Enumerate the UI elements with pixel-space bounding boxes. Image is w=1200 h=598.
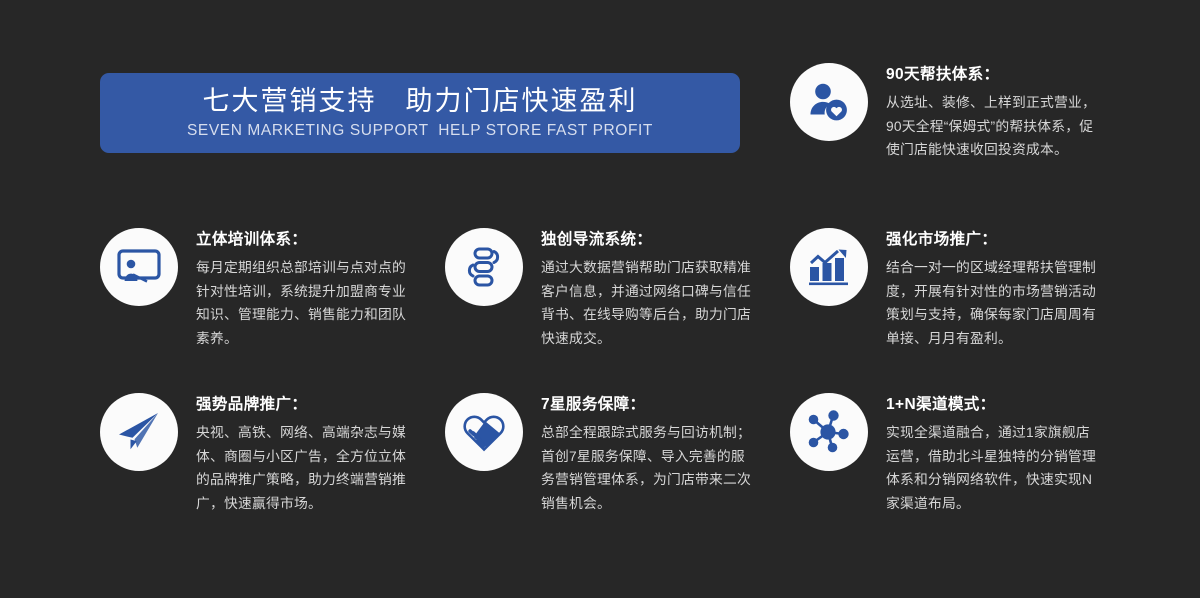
card-text: 结合一对一的区域经理帮扶管理制度，开展有针对性的市场营销活动策划与支持，确保每家… (886, 256, 1098, 350)
flow-diagram-icon (461, 244, 507, 290)
icon-circle (790, 63, 868, 141)
card-body: 立体培训体系： 每月定期组织总部培训与点对点的针对性培训，系统提升加盟商专业知识… (196, 228, 406, 350)
card-market-promotion: 强化市场推广： 结合一对一的区域经理帮扶管理制度，开展有针对性的市场营销活动策划… (790, 228, 1098, 350)
bar-chart-growth-icon (806, 244, 852, 290)
icon-circle (790, 228, 868, 306)
card-seven-star-service: 7星服务保障： 总部全程跟踪式服务与回访机制；首创7星服务保障、导入完善的服务营… (445, 393, 751, 515)
card-body: 90天帮扶体系： 从选址、装修、上样到正式营业，90天全程“保姆式”的帮扶体系，… (886, 63, 1098, 162)
card-body: 独创导流系统： 通过大数据营销帮助门店获取精准客户信息，并通过网络口碑与信任背书… (541, 228, 751, 350)
paper-plane-icon (116, 409, 162, 455)
card-traffic-system: 独创导流系统： 通过大数据营销帮助门店获取精准客户信息，并通过网络口碑与信任背书… (445, 228, 751, 350)
icon-circle (445, 228, 523, 306)
banner-title-en: SEVEN MARKETING SUPPORT HELP STORE FAST … (187, 120, 653, 142)
card-title: 90天帮扶体系： (886, 64, 1098, 86)
card-support-90-days: 90天帮扶体系： 从选址、装修、上样到正式营业，90天全程“保姆式”的帮扶体系，… (790, 63, 1098, 162)
card-brand-promotion: 强势品牌推广： 央视、高铁、网络、高端杂志与媒体、商圈与小区广告，全方位立体的品… (100, 393, 406, 515)
banner-title-cn: 七大营销支持 助力门店快速盈利 (203, 84, 638, 118)
icon-circle (100, 228, 178, 306)
card-text: 通过大数据营销帮助门店获取精准客户信息，并通过网络口碑与信任背书、在线导购等后台… (541, 256, 751, 350)
card-text: 从选址、装修、上样到正式营业，90天全程“保姆式”的帮扶体系，促使门店能快速收回… (886, 91, 1098, 162)
icon-circle (100, 393, 178, 471)
header-banner: 七大营销支持 助力门店快速盈利 SEVEN MARKETING SUPPORT … (100, 73, 740, 153)
card-text: 总部全程跟踪式服务与回访机制；首创7星服务保障、导入完善的服务营销管理体系，为门… (541, 421, 751, 515)
handshake-heart-icon (461, 409, 507, 455)
card-one-plus-n-channel: 1+N渠道模式： 实现全渠道融合，通过1家旗舰店运营，借助北斗星独特的分销管理体… (790, 393, 1098, 515)
whiteboard-presenter-icon (116, 244, 162, 290)
card-title: 强势品牌推广： (196, 394, 406, 416)
card-body: 强化市场推广： 结合一对一的区域经理帮扶管理制度，开展有针对性的市场营销活动策划… (886, 228, 1098, 350)
card-text: 每月定期组织总部培训与点对点的针对性培训，系统提升加盟商专业知识、管理能力、销售… (196, 256, 406, 350)
card-body: 1+N渠道模式： 实现全渠道融合，通过1家旗舰店运营，借助北斗星独特的分销管理体… (886, 393, 1098, 515)
card-text: 央视、高铁、网络、高端杂志与媒体、商圈与小区广告，全方位立体的品牌推广策略，助力… (196, 421, 406, 515)
card-body: 强势品牌推广： 央视、高铁、网络、高端杂志与媒体、商圈与小区广告，全方位立体的品… (196, 393, 406, 515)
card-title: 强化市场推广： (886, 229, 1098, 251)
card-text: 实现全渠道融合，通过1家旗舰店运营，借助北斗星独特的分销管理体系和分销网络软件，… (886, 421, 1098, 515)
card-title: 7星服务保障： (541, 394, 751, 416)
poster-canvas: 七大营销支持 助力门店快速盈利 SEVEN MARKETING SUPPORT … (0, 0, 1200, 598)
card-title: 独创导流系统： (541, 229, 751, 251)
person-heart-icon (806, 79, 852, 125)
icon-circle (790, 393, 868, 471)
card-body: 7星服务保障： 总部全程跟踪式服务与回访机制；首创7星服务保障、导入完善的服务营… (541, 393, 751, 515)
network-hub-icon (806, 409, 852, 455)
card-title: 立体培训体系： (196, 229, 406, 251)
card-title: 1+N渠道模式： (886, 394, 1098, 416)
icon-circle (445, 393, 523, 471)
card-training-system: 立体培训体系： 每月定期组织总部培训与点对点的针对性培训，系统提升加盟商专业知识… (100, 228, 406, 350)
